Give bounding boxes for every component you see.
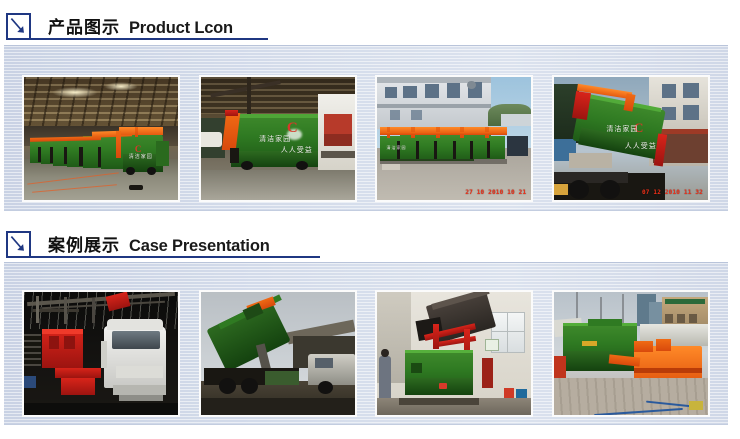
case-thumbnail-row <box>4 290 728 417</box>
product-icon-gallery-panel: C 清洁家园 <box>4 45 728 211</box>
product-showcase-page: 产品图示 Product Lcon <box>0 0 740 439</box>
slogan-text: 清洁家园 <box>129 153 153 160</box>
arrow-down-right-box-icon <box>6 13 31 40</box>
section-title-cn: 案例展示 <box>48 231 120 256</box>
section-title-wrap: 案例展示 Case Presentation <box>31 231 320 258</box>
thumbnail-white-truck-cab-with-red-hooklift-in-factory[interactable] <box>22 290 180 417</box>
arrow-down-right-box-icon <box>6 231 31 258</box>
section-title-en: Case Presentation <box>129 237 270 256</box>
slogan-line-1: 清洁家园 <box>606 124 638 134</box>
product-thumbnail-row: C 清洁家园 <box>4 75 728 202</box>
thumbnail-compactor-with-raised-bin-lifter-at-transfer-station[interactable] <box>375 290 533 417</box>
section-header-product-icon: 产品图示 Product Lcon <box>0 6 268 40</box>
slogan-line-2: 人人受益 <box>281 145 313 155</box>
thumbnail-green-container-tipped-from-truck-outdoors[interactable] <box>199 290 357 417</box>
section-title-cn: 产品图示 <box>48 13 120 38</box>
section-title-wrap: 产品图示 Product Lcon <box>31 13 268 40</box>
thumbnail-single-green-compactor-in-warehouse[interactable]: C 清洁家园 人人受益 <box>199 75 357 202</box>
photo-timestamp: 07 12 2010 11 32 <box>642 189 703 196</box>
case-presentation-gallery-panel <box>4 262 728 425</box>
slogan-line-2: 人人受益 <box>625 141 657 151</box>
thumbnail-row-of-green-orange-compactors-in-warehouse[interactable]: C 清洁家园 <box>22 75 180 202</box>
thumbnail-compactor-being-tipped-onto-hook-lift-truck[interactable]: C 清洁家园 人人受益 07 12 2010 11 32 <box>552 75 710 202</box>
section-title-en: Product Lcon <box>129 19 233 38</box>
thumbnail-compactor-fleet-outside-factory-building[interactable]: 清洁家园 27 10 2010 10 21 <box>375 75 533 202</box>
unit-label: 清洁家园 <box>387 145 407 151</box>
slogan-line-1: 清洁家园 <box>259 134 291 144</box>
section-header-case-presentation: 案例展示 Case Presentation <box>0 224 320 258</box>
thumbnail-green-compactor-with-orange-hopper-in-city-lot[interactable] <box>552 290 710 417</box>
photo-timestamp: 27 10 2010 10 21 <box>465 189 526 196</box>
